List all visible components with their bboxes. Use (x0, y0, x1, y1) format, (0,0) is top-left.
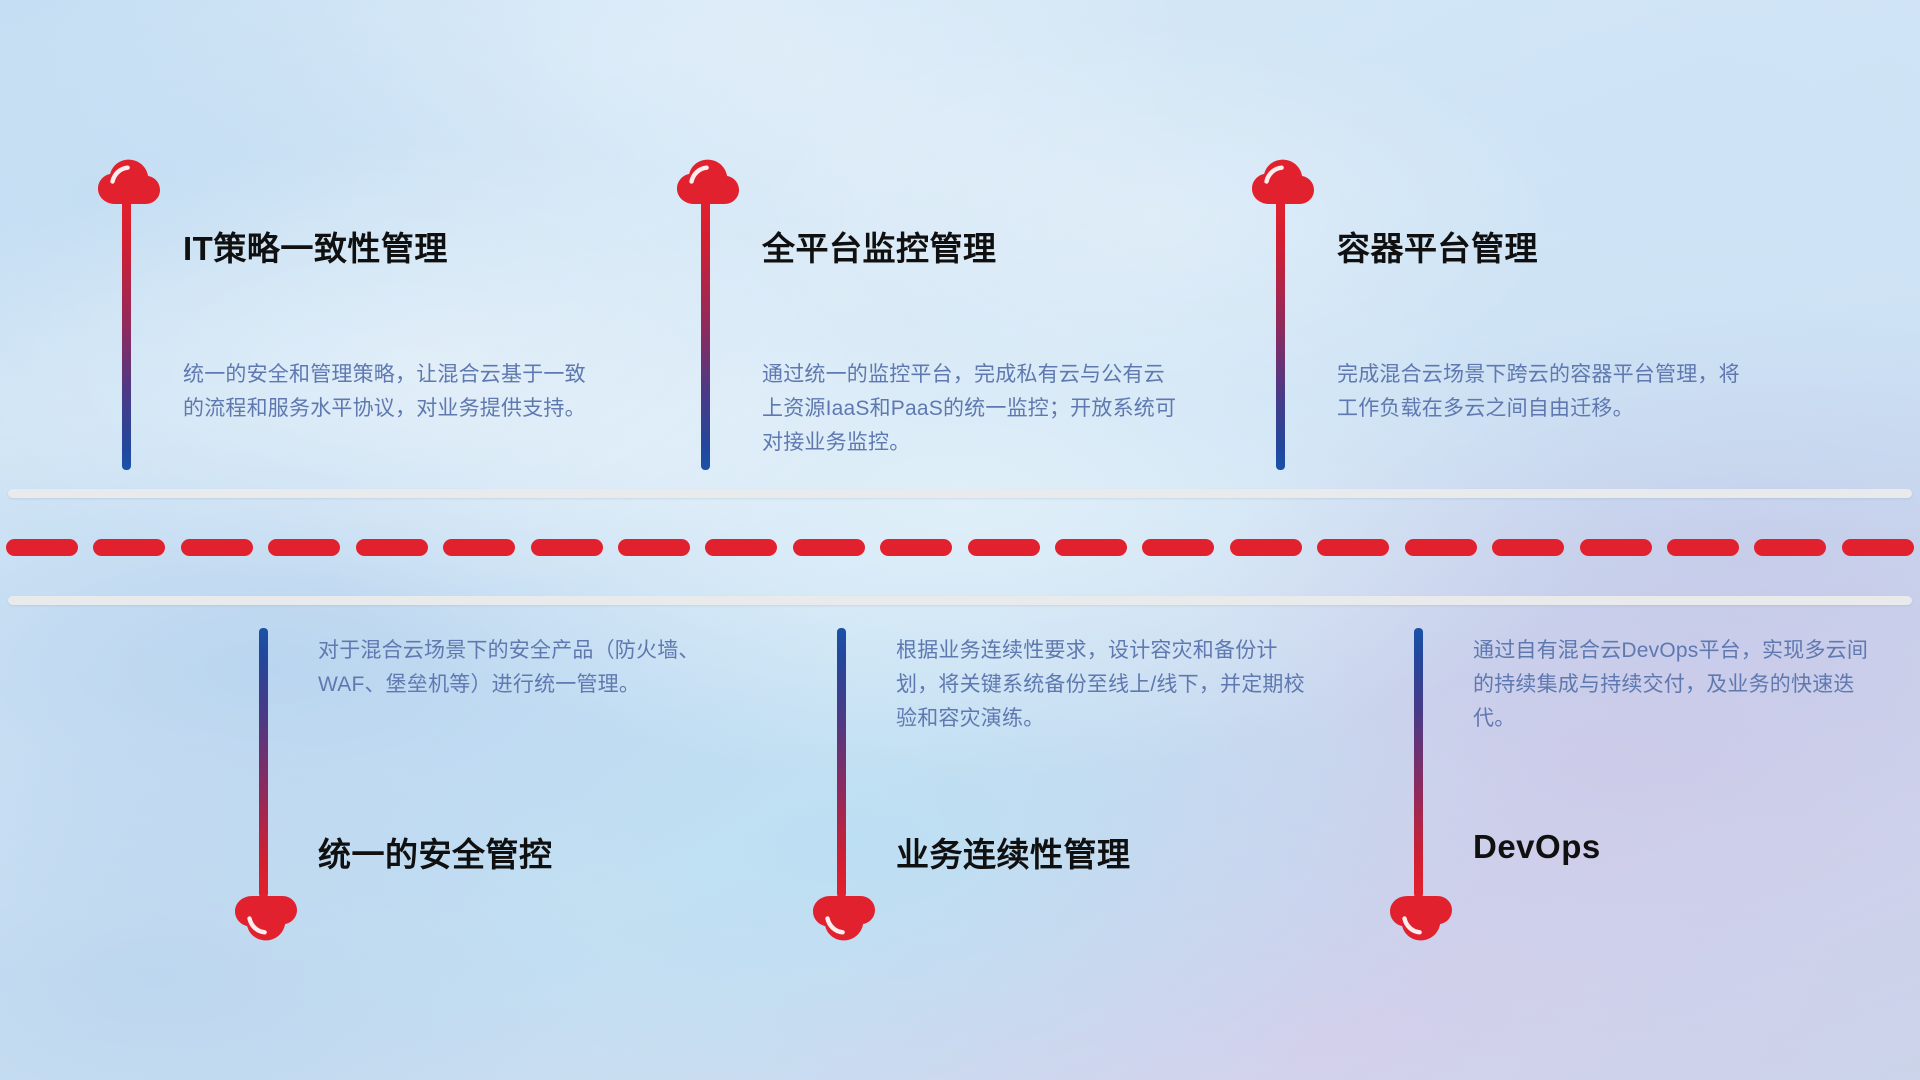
column-title: 统一的安全管控 (318, 828, 553, 876)
road-edge-top (8, 489, 1912, 498)
road-dash (93, 539, 165, 556)
pin-stem (1414, 628, 1423, 898)
road-dash (443, 539, 515, 556)
road-divider (0, 489, 1920, 605)
column-title: 全平台监控管理 (762, 222, 997, 270)
road-dash (1317, 539, 1389, 556)
road-dash (1055, 539, 1127, 556)
pin-stem (701, 196, 710, 470)
road-dash (1754, 539, 1826, 556)
road-dash (1667, 539, 1739, 556)
road-dash (1230, 539, 1302, 556)
road-dash (618, 539, 690, 556)
road-dash (181, 539, 253, 556)
pin-stem (1276, 196, 1285, 470)
column-title: 容器平台管理 (1337, 222, 1538, 270)
pin-stem (837, 628, 846, 898)
road-dash (968, 539, 1040, 556)
road-dash (793, 539, 865, 556)
column-body-text: 根据业务连续性要求，设计容灾和备份计划，将关键系统备份至线上/线下，并定期校验和… (896, 634, 1316, 736)
road-dash (1142, 539, 1214, 556)
column-title: IT策略一致性管理 (183, 222, 448, 270)
road-dash (1842, 539, 1914, 556)
column-body-text: 通过统一的监控平台，完成私有云与公有云上资源IaaS和PaaS的统一监控；开放系… (762, 358, 1182, 460)
column-body-text: 完成混合云场景下跨云的容器平台管理，将工作负载在多云之间自由迁移。 (1337, 358, 1757, 426)
cloud-icon (1389, 895, 1453, 941)
road-dash (6, 539, 78, 556)
infographic-canvas: IT策略一致性管理 统一的安全和管理策略，让混合云基于一致的流程和服务水平协议，… (0, 0, 1920, 1080)
road-dash (1580, 539, 1652, 556)
column-title: DevOps (1473, 828, 1601, 866)
road-dash (705, 539, 777, 556)
road-center-dashes (0, 539, 1920, 556)
road-dash (880, 539, 952, 556)
road-edge-bottom (8, 596, 1912, 605)
column-title: 业务连续性管理 (896, 828, 1131, 876)
pin-stem (259, 628, 268, 898)
column-body-text: 对于混合云场景下的安全产品（防火墙、WAF、堡垒机等）进行统一管理。 (318, 634, 738, 702)
column-body-text: 通过自有混合云DevOps平台，实现多云间的持续集成与持续交付，及业务的快速迭代… (1473, 634, 1873, 736)
road-dash (531, 539, 603, 556)
road-dash (1405, 539, 1477, 556)
road-dash (1492, 539, 1564, 556)
cloud-icon (234, 895, 298, 941)
column-body-text: 统一的安全和管理策略，让混合云基于一致的流程和服务水平协议，对业务提供支持。 (183, 358, 603, 426)
cloud-icon (812, 895, 876, 941)
pin-stem (122, 196, 131, 470)
road-dash (356, 539, 428, 556)
road-dash (268, 539, 340, 556)
